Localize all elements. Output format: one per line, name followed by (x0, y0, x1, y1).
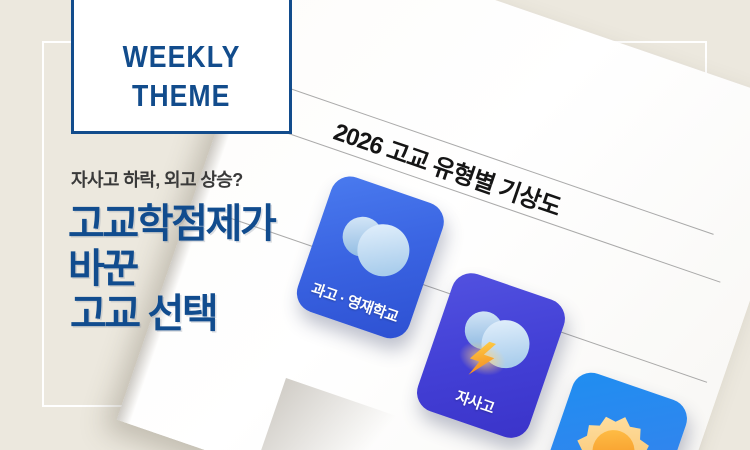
badge-line-theme: THEME (132, 76, 230, 115)
headline-title-line1: 고교학점제가 (68, 203, 274, 246)
weather-card-oego-gukjego[interactable]: 외고 · 국제고 (531, 367, 693, 450)
weather-card-gwago-yeongjae[interactable]: 과고 · 영재학교 (291, 171, 449, 344)
weekly-theme-badge: WEEKLY THEME (71, 0, 292, 134)
sun-icon (565, 403, 662, 450)
cloud-icon (328, 206, 420, 289)
badge-line-weekly: WEEKLY (123, 37, 241, 76)
headline-block: 자사고 하락, 외고 상승? 고교학점제가 바꾼 고교 선택 (68, 166, 274, 335)
weather-card-jasago[interactable]: 자사고 (412, 268, 571, 444)
headline-title-line2: 바꾼 (68, 248, 274, 291)
headline-title-line3: 고교 선택 (68, 293, 274, 336)
poster-canvas: 2026 고교 유형별 기상도 과고 · 영재학교 (0, 0, 750, 450)
thunderstorm-icon (444, 300, 544, 396)
headline-subtitle: 자사고 하락, 외고 상승? (71, 166, 274, 192)
